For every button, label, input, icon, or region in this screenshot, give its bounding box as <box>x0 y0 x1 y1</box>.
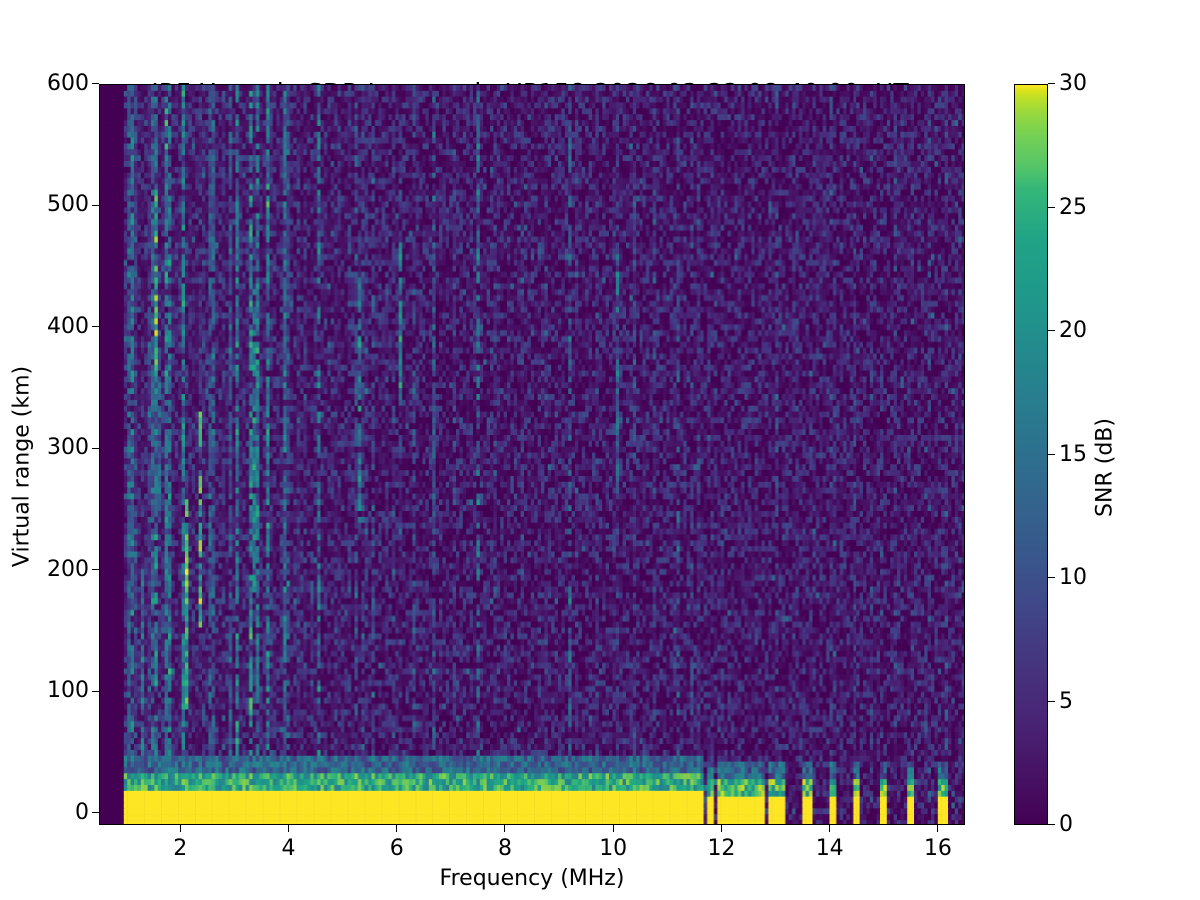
colorbar-tick-mark <box>1048 454 1055 455</box>
y-tick-mark <box>92 83 99 84</box>
colorbar-tick-mark <box>1048 83 1055 84</box>
x-tick-mark <box>937 825 938 832</box>
colorbar-tick-label: 30 <box>1059 73 1087 95</box>
ionogram-heatmap <box>100 85 964 824</box>
y-tick-label: 100 <box>47 680 89 702</box>
x-tick-mark <box>504 825 505 832</box>
y-tick-mark <box>92 569 99 570</box>
ionogram-figure: IRF Uppsala SDR Ionosonde UP158 2026-03-… <box>0 0 1200 900</box>
x-tick-label: 2 <box>140 836 220 861</box>
colorbar-tick-mark <box>1048 824 1055 825</box>
colorbar-tick-label: 10 <box>1059 567 1087 589</box>
colorbar-tick-mark <box>1048 701 1055 702</box>
y-tick-mark <box>92 812 99 813</box>
y-tick-mark <box>92 448 99 449</box>
colorbar-gradient <box>1014 84 1048 825</box>
colorbar-tick-mark <box>1048 330 1055 331</box>
x-tick-mark <box>396 825 397 832</box>
colorbar-tick-label: 5 <box>1059 691 1073 713</box>
y-tick-label: 400 <box>47 316 89 338</box>
y-tick-label: 300 <box>47 437 89 459</box>
colorbar-tick-label: 25 <box>1059 197 1087 219</box>
x-tick-label: 16 <box>898 836 978 861</box>
x-tick-label: 12 <box>681 836 761 861</box>
y-tick-mark <box>92 326 99 327</box>
x-tick-mark <box>721 825 722 832</box>
x-tick-mark <box>288 825 289 832</box>
x-tick-mark <box>829 825 830 832</box>
y-tick-mark <box>92 691 99 692</box>
colorbar-tick-label: 20 <box>1059 320 1087 342</box>
x-tick-label: 8 <box>465 836 545 861</box>
y-tick-label: 500 <box>47 194 89 216</box>
x-tick-mark <box>180 825 181 832</box>
colorbar-label: SNR (dB) <box>1093 368 1118 568</box>
x-tick-label: 6 <box>357 836 437 861</box>
y-tick-mark <box>92 205 99 206</box>
ionogram-plot-area[interactable] <box>99 84 965 825</box>
x-tick-label: 4 <box>248 836 328 861</box>
y-tick-label: 0 <box>75 802 89 824</box>
colorbar-tick-mark <box>1048 577 1055 578</box>
colorbar-tick-label: 15 <box>1059 444 1087 466</box>
x-tick-label: 14 <box>790 836 870 861</box>
x-tick-label: 10 <box>573 836 653 861</box>
colorbar-tick-mark <box>1048 207 1055 208</box>
x-tick-mark <box>613 825 614 832</box>
x-axis-label: Frequency (MHz) <box>99 866 965 891</box>
y-tick-label: 200 <box>47 559 89 581</box>
y-tick-label: 600 <box>47 73 89 95</box>
colorbar-tick-label: 0 <box>1059 814 1073 836</box>
y-axis-label: Virtual range (km) <box>10 302 35 632</box>
